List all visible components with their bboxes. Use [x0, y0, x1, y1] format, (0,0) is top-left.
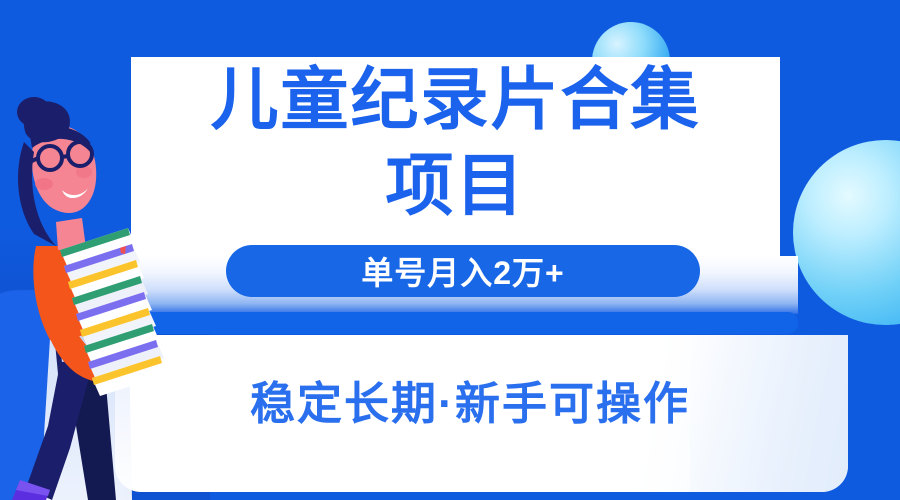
page-title-line-1: 儿童纪录片合集: [131, 66, 780, 134]
promo-poster: 儿童纪录片合集 项目 单号月入2万+ 稳定长期·新手可操作: [0, 0, 900, 500]
earnings-badge-label: 单号月入2万+: [361, 248, 565, 294]
blue-divider-strip: [115, 312, 798, 334]
page-title-line-2: 项目: [131, 152, 780, 220]
gradient-sphere-right-icon: [793, 140, 900, 325]
page-subtitle: 稳定长期·新手可操作: [115, 367, 825, 432]
earnings-badge: 单号月入2万+: [226, 245, 700, 297]
